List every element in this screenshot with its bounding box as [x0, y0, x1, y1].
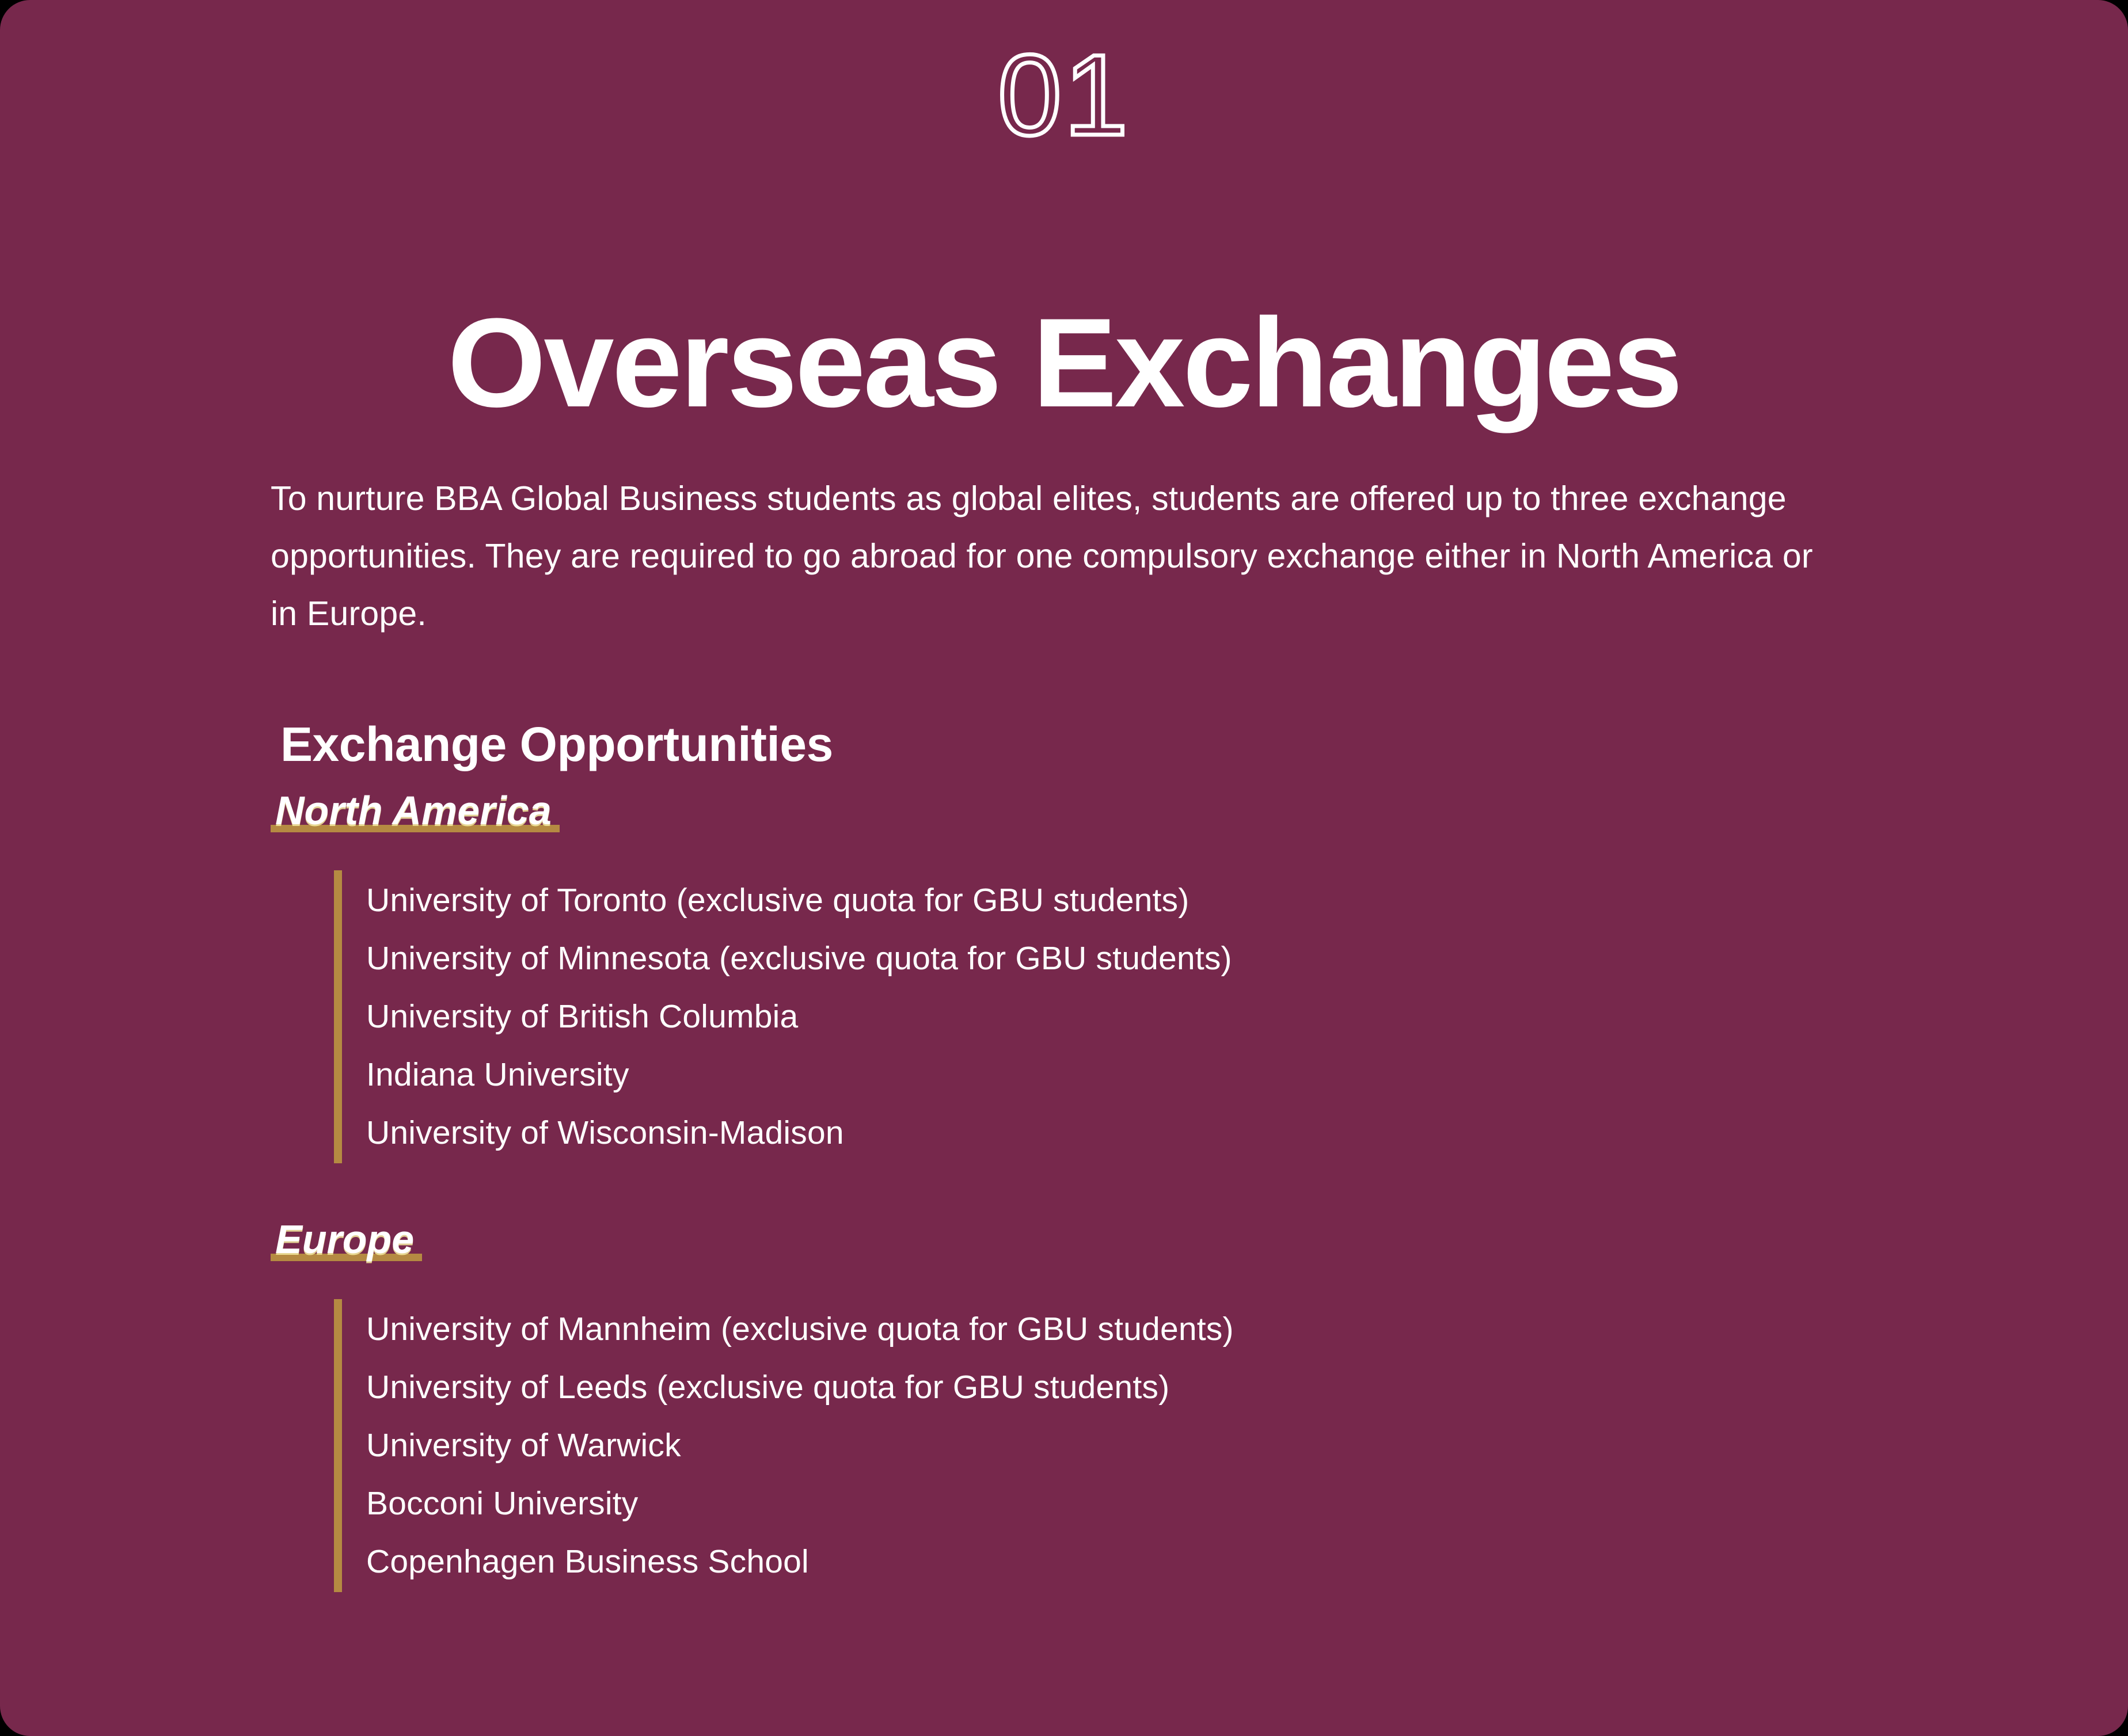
- university-list-north-america: University of Toronto (exclusive quota f…: [334, 870, 1232, 1163]
- region-label-north-america: North America: [275, 789, 552, 832]
- page-title: Overseas Exchanges: [0, 295, 2128, 432]
- region-label-europe: Europe: [275, 1217, 414, 1261]
- exchange-opportunities-heading: Exchange Opportunities: [280, 718, 833, 771]
- list-item: University of Leeds (exclusive quota for…: [366, 1358, 1234, 1417]
- list-item: University of Warwick: [366, 1417, 1234, 1475]
- section-number: 01: [0, 38, 2128, 153]
- region-group-north-america: North America University of Toronto (exc…: [271, 789, 1232, 1172]
- list-item: University of Toronto (exclusive quota f…: [366, 871, 1232, 930]
- list-item: University of Minnesota (exclusive quota…: [366, 930, 1232, 988]
- university-list-europe: University of Mannheim (exclusive quota …: [334, 1299, 1234, 1592]
- list-item: Indiana University: [366, 1046, 1232, 1104]
- list-item: University of Wisconsin-Madison: [366, 1104, 1232, 1162]
- slide-canvas: 01 Overseas Exchanges To nurture BBA Glo…: [0, 0, 2128, 1736]
- list-item: University of Mannheim (exclusive quota …: [366, 1300, 1234, 1358]
- list-item: University of British Columbia: [366, 988, 1232, 1046]
- region-group-europe: Europe University of Mannheim (exclusive…: [271, 1217, 1234, 1601]
- region-label-wrap-europe: Europe: [271, 1217, 422, 1261]
- intro-paragraph: To nurture BBA Global Business students …: [271, 470, 1848, 642]
- list-item: Copenhagen Business School: [366, 1533, 1234, 1591]
- list-item: Bocconi University: [366, 1475, 1234, 1533]
- region-label-wrap-north-america: North America: [271, 789, 560, 832]
